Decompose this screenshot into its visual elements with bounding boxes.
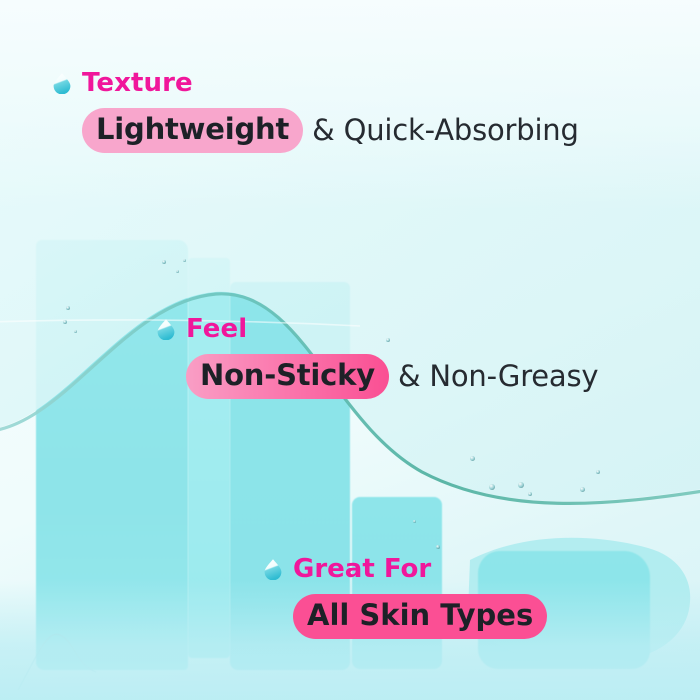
eyebrow-row: Great For <box>263 556 556 582</box>
headline-tail: & Non-Greasy <box>389 362 598 391</box>
bubble <box>176 270 179 273</box>
eyebrow-label: Great For <box>293 556 431 582</box>
bubble <box>436 545 440 549</box>
bubble <box>63 320 67 324</box>
eyebrow-label: Feel <box>186 316 247 342</box>
bubble <box>66 306 70 310</box>
water-drop-icon <box>52 72 72 94</box>
highlight-pill: Non-Sticky <box>186 354 389 399</box>
bubble <box>489 484 495 490</box>
water-drop-icon <box>156 318 176 340</box>
eyebrow-label: Texture <box>82 70 193 96</box>
feature-block-great-for: Great For All Skin Types <box>263 556 556 639</box>
highlight-pill: Lightweight <box>82 108 303 153</box>
promo-graphic: Texture Lightweight & Quick-Absorbing <box>0 0 700 700</box>
bubble <box>162 260 166 264</box>
eyebrow-row: Texture <box>52 70 579 96</box>
gel-swatch-bar-1 <box>36 240 188 670</box>
bubble <box>518 482 524 488</box>
eyebrow-row: Feel <box>156 316 598 342</box>
headline: All Skin Types <box>293 594 556 639</box>
highlight-pill: All Skin Types <box>293 594 547 639</box>
headline: Lightweight & Quick-Absorbing <box>82 108 579 153</box>
headline-tail: & Quick-Absorbing <box>303 116 579 145</box>
bubble <box>580 487 585 492</box>
bubble <box>74 330 77 333</box>
bubble <box>183 259 186 262</box>
bubble <box>528 492 532 496</box>
feature-block-feel: Feel Non-Sticky & Non-Greasy <box>156 316 598 399</box>
water-drop-icon <box>263 558 283 580</box>
headline: Non-Sticky & Non-Greasy <box>186 354 598 399</box>
bubble <box>596 470 600 474</box>
bubble <box>470 456 475 461</box>
feature-block-texture: Texture Lightweight & Quick-Absorbing <box>52 70 579 153</box>
bubble <box>413 520 416 523</box>
